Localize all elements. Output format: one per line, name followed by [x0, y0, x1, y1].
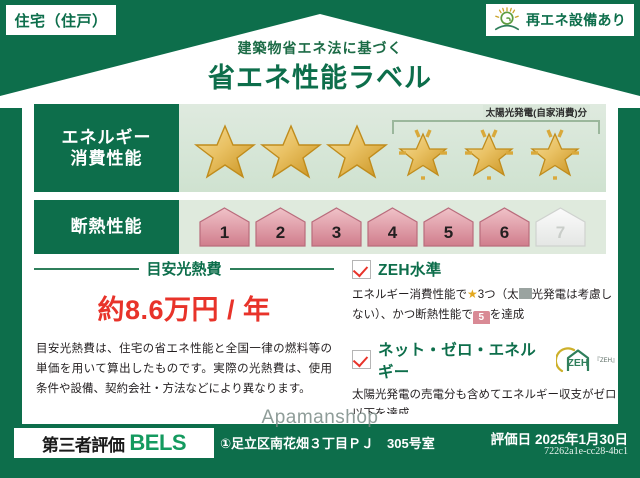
energy-performance-label: エネルギー 消費性能 [34, 104, 179, 192]
insulation-level-number: 3 [309, 223, 364, 243]
star-solar [391, 120, 455, 182]
star-solar [457, 120, 521, 182]
insulation-performance-row: 断熱性能 1 2 [34, 200, 606, 254]
desc-part-pre: エネルギー消費性能で [352, 289, 467, 301]
insulation-level-number: 7 [533, 223, 588, 243]
insulation-level-house: 6 [477, 206, 532, 248]
insulation-level-number: 6 [477, 223, 532, 243]
star-filled [193, 120, 257, 182]
check-description: エネルギー消費性能で★3つ（太光発電は考慮しない）、かつ断熱性能で5を達成 [352, 284, 618, 326]
energy-star-rating [179, 120, 587, 182]
checkmark-icon [352, 350, 371, 369]
bels-certification-logo: 第三者評価 BELS [14, 428, 214, 458]
desc-part-mid: 3つ（太 [478, 289, 519, 301]
badge-renewable-equipment: 再エネ設備あり [486, 4, 634, 36]
energy-performance-row: エネルギー 消費性能 太陽光発電(自家消費)分 [34, 104, 606, 192]
evaluation-date-value: 2025年1月30日 [535, 432, 628, 447]
insulation-label-text: 断熱性能 [71, 216, 143, 237]
insulation-level-house: 4 [365, 206, 420, 248]
energy-label-line2: 消費性能 [71, 148, 143, 169]
footer: 第三者評価 BELS ①足立区南花畑３丁目ＰＪ 305号室 評価日 2025年1… [0, 424, 640, 478]
bels-jp-label: 第三者評価 [42, 431, 125, 456]
insulation-level-number: 5 [421, 223, 476, 243]
check-item-zeh-level: ZEH水準 エネルギー消費性能で★3つ（太光発電は考慮しない）、かつ断熱性能で5… [352, 258, 618, 326]
evaluation-date-label: 評価日 [491, 432, 532, 447]
insulation-level-number: 1 [197, 223, 252, 243]
energy-stars-panel: 太陽光発電(自家消費)分 [179, 104, 606, 192]
energy-label-card: 住宅（住戸） 再エネ設備あり 建築物省エネ法に基づく 省エネ性能 [0, 0, 640, 478]
badge-house-type-label: 住宅（住戸） [14, 10, 107, 31]
cost-heading-text: 目安光熱費 [147, 258, 222, 279]
evaluation-id: 72262a1e-cc28-4bc1 [544, 446, 628, 457]
estimated-utility-cost-block: 目安光熱費 約8.6万円 / 年 目安光熱費は、住宅の省エネ性能と全国一律の燃料… [34, 258, 334, 399]
zeh-logo-sub: 『ZEH』 [594, 355, 618, 364]
insulation-level-house: 3 [309, 206, 364, 248]
badge-renewable-label: 再エネ設備あり [526, 10, 626, 30]
insulation-level-house-inactive: 7 [533, 206, 588, 248]
page-title: 省エネ性能ラベル [0, 56, 640, 95]
redacted-char [519, 288, 532, 299]
check-title: ZEH水準 [378, 258, 442, 280]
insulation-level-number: 4 [365, 223, 420, 243]
energy-label-line1: エネルギー [62, 127, 152, 148]
mini-level-badge: 5 [473, 311, 490, 324]
evaluation-date: 評価日 2025年1月30日 [491, 428, 628, 448]
check-header: ZEH水準 [352, 258, 618, 280]
bels-en-label: BELS [129, 430, 186, 456]
desc-part-post: を達成 [490, 309, 525, 321]
cost-amount: 約8.6万円 / 年 [34, 288, 334, 327]
svg-text:ZEH: ZEH [567, 357, 588, 369]
star-solar [523, 120, 587, 182]
insulation-level-house: 5 [421, 206, 476, 248]
property-address: ①足立区南花畑３丁目ＰＪ 305号室 [220, 433, 435, 452]
sun-icon [492, 6, 522, 34]
mini-star-icon: ★ [467, 287, 478, 301]
zeh-logo-icon: ZEH 『ZEH』 [556, 347, 618, 373]
insulation-level-scale: 1 2 3 4 [179, 206, 588, 248]
checkmark-icon [352, 260, 371, 279]
insulation-level-number: 2 [253, 223, 308, 243]
check-header: ネット・ゼロ・エネルギー ZEH 『ZEH』 [352, 338, 618, 382]
cost-note: 目安光熱費は、住宅の省エネ性能と全国一律の燃料等の単価を用いて算出したものです。… [34, 339, 334, 399]
header-subtitle: 建築物省エネ法に基づく [0, 38, 640, 58]
badge-house-type: 住宅（住戸） [6, 5, 116, 35]
divider-left [34, 268, 139, 270]
insulation-level-house: 1 [197, 206, 252, 248]
solar-portion-caption: 太陽光発電(自家消費)分 [483, 105, 590, 119]
insulation-level-house: 2 [253, 206, 308, 248]
insulation-performance-label: 断熱性能 [34, 200, 179, 254]
star-filled [259, 120, 323, 182]
divider-right [230, 268, 335, 270]
insulation-levels-panel: 1 2 3 4 [179, 200, 606, 254]
cost-heading: 目安光熱費 [34, 258, 334, 279]
star-filled [325, 120, 389, 182]
check-title: ネット・ゼロ・エネルギー [378, 338, 549, 382]
